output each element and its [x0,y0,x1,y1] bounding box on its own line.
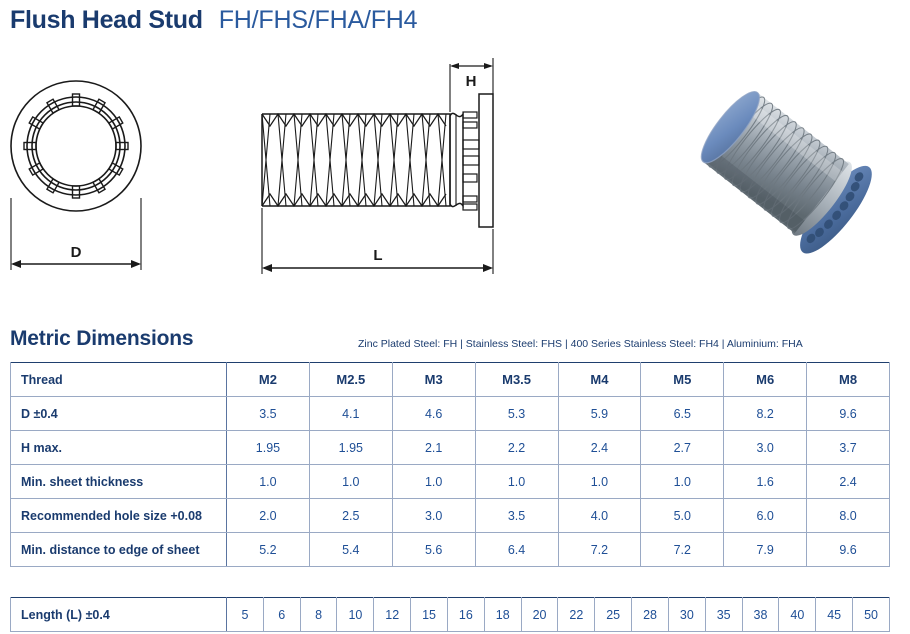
cell: 4.0 [558,499,641,533]
cell: 1.95 [309,431,392,465]
cell: 3.0 [724,431,807,465]
cell: 3.5 [227,397,310,431]
product-3d-render [655,48,905,284]
cell: 3.7 [807,431,890,465]
cell: 28 [632,598,669,632]
technical-drawings-area: D [0,46,910,296]
cell: 1.0 [309,465,392,499]
metric-dimensions-header: Metric Dimensions Zinc Plated Steel: FH … [10,327,900,351]
product-codes: FH/FHS/FHA/FH4 [219,6,418,35]
thread-crest-bottom [262,194,446,206]
cell: 2.5 [309,499,392,533]
table-header-row: Thread M2 M2.5 M3 M3.5 M4 M5 M6 M8 [11,363,890,397]
flange-plate [479,94,493,227]
cell: 5.9 [558,397,641,431]
column-header-m4: M4 [558,363,641,397]
cell: 15 [411,598,448,632]
cell: 9.6 [807,397,890,431]
row-label-min-sheet-thickness: Min. sheet thickness [11,465,227,499]
cell: 5.4 [309,533,392,567]
cell: 2.2 [475,431,558,465]
thread-flanks [262,114,446,206]
cell: 7.9 [724,533,807,567]
row-label-h-max: H max. [11,431,227,465]
column-header-m25: M2.5 [309,363,392,397]
column-header-thread: Thread [11,363,227,397]
shank-circle [36,106,116,186]
thread-crest-top [262,114,446,126]
cell: 16 [447,598,484,632]
cell: 2.4 [807,465,890,499]
page-header: Flush Head Stud FH/FHS/FHA/FH4 [10,6,417,35]
cell: 22 [558,598,595,632]
l-dimension-label: L [373,247,382,264]
cell: 38 [742,598,779,632]
cell: 8.2 [724,397,807,431]
flange-outer-circle [11,81,141,211]
cell: 7.2 [558,533,641,567]
cell: 45 [816,598,853,632]
cell: 25 [595,598,632,632]
length-options-table: Length (L) ±0.4 5 6 8 10 12 15 16 18 20 … [10,597,890,632]
cell: 6 [263,598,300,632]
table-row: Min. sheet thickness 1.0 1.0 1.0 1.0 1.0… [11,465,890,499]
end-view-drawing: D [4,46,214,286]
cell: 40 [779,598,816,632]
material-codes-subtitle: Zinc Plated Steel: FH | Stainless Steel:… [358,338,803,350]
d-dimension-label: D [71,244,82,261]
cell: 2.4 [558,431,641,465]
side-view-drawing: H L [250,46,520,286]
row-label-recommended-hole-size: Recommended hole size +0.08 [11,499,227,533]
table-row: D ±0.4 3.5 4.1 4.6 5.3 5.9 6.5 8.2 9.6 [11,397,890,431]
row-label-length: Length (L) ±0.4 [11,598,227,632]
cell: 1.0 [475,465,558,499]
cell: 20 [521,598,558,632]
cell: 1.95 [227,431,310,465]
page-title: Flush Head Stud [10,6,203,35]
table-row: H max. 1.95 1.95 2.1 2.2 2.4 2.7 3.0 3.7 [11,431,890,465]
cell: 8.0 [807,499,890,533]
cell: 12 [374,598,411,632]
cell: 5.3 [475,397,558,431]
cell: 6.0 [724,499,807,533]
cell: 1.0 [392,465,475,499]
table-row: Length (L) ±0.4 5 6 8 10 12 15 16 18 20 … [11,598,890,632]
cell: 50 [853,598,890,632]
column-header-m8: M8 [807,363,890,397]
cell: 5.2 [227,533,310,567]
knurl-ring-inner [32,102,120,190]
head-knurl-teeth [463,112,479,210]
cell: 6.4 [475,533,558,567]
metric-dimensions-table: Thread M2 M2.5 M3 M3.5 M4 M5 M6 M8 D ±0.… [10,362,890,567]
cell: 10 [337,598,374,632]
cell: 7.2 [641,533,724,567]
cell: 4.6 [392,397,475,431]
column-header-m2: M2 [227,363,310,397]
knurl-teeth [24,94,128,198]
row-label-d: D ±0.4 [11,397,227,431]
cell: 30 [668,598,705,632]
cell: 35 [705,598,742,632]
cell: 5.0 [641,499,724,533]
cell: 3.5 [475,499,558,533]
column-header-m35: M3.5 [475,363,558,397]
table-row: Recommended hole size +0.08 2.0 2.5 3.0 … [11,499,890,533]
cell: 6.5 [641,397,724,431]
knurl-ring-outer [27,97,125,195]
cell: 1.0 [227,465,310,499]
column-header-m5: M5 [641,363,724,397]
cell: 9.6 [807,533,890,567]
cell: 1.0 [641,465,724,499]
cell: 1.6 [724,465,807,499]
table-row: Min. distance to edge of sheet 5.2 5.4 5… [11,533,890,567]
column-header-m3: M3 [392,363,475,397]
cell: 2.1 [392,431,475,465]
cell: 18 [484,598,521,632]
cell: 2.7 [641,431,724,465]
cell: 3.0 [392,499,475,533]
l-extension-lines [262,208,493,274]
row-label-min-distance-to-edge: Min. distance to edge of sheet [11,533,227,567]
cell: 2.0 [227,499,310,533]
cell: 5.6 [392,533,475,567]
stud-body-group [687,77,883,263]
h-dimension-label: H [466,73,477,90]
cell: 5 [227,598,264,632]
cell: 8 [300,598,337,632]
cell: 1.0 [558,465,641,499]
section-heading: Metric Dimensions [10,327,193,351]
cell: 4.1 [309,397,392,431]
column-header-m6: M6 [724,363,807,397]
